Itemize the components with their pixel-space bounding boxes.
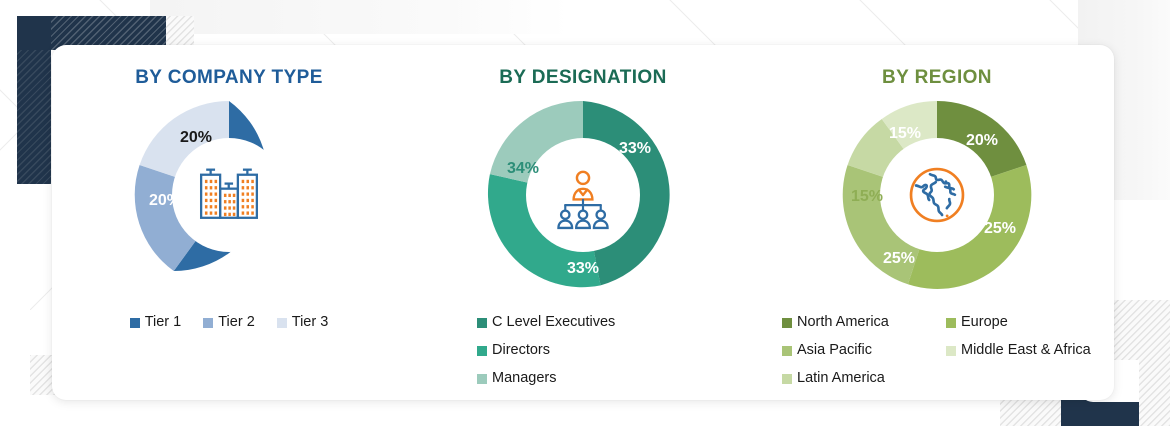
legend-label-north-america: North America xyxy=(797,309,889,337)
panel-by-region: BY REGION 20% 25% 25% xyxy=(767,67,1107,397)
legend-item-tier-3[interactable]: Tier 3 xyxy=(277,309,329,337)
panel-title-company-type: BY COMPANY TYPE xyxy=(135,67,323,89)
legend-item-tier-2[interactable]: Tier 2 xyxy=(203,309,255,337)
legend-item-tier-1[interactable]: Tier 1 xyxy=(130,309,182,337)
legend-designation: C Level Executives Directors Managers xyxy=(477,309,707,392)
legend-swatch-directors xyxy=(477,346,487,356)
legend-item-latin-america[interactable]: Latin America xyxy=(782,365,932,393)
donut-chart-company-type: 60% 20% 20% xyxy=(129,95,329,295)
globe-icon xyxy=(899,157,975,233)
buildings-icon xyxy=(191,157,267,233)
legend-item-directors[interactable]: Directors xyxy=(477,337,707,365)
legend-swatch-tier-2 xyxy=(203,318,213,328)
legend-item-asia-pacific[interactable]: Asia Pacific xyxy=(782,337,932,365)
corner-accent-top-left-hatch-2 xyxy=(17,50,51,184)
org-chart-icon xyxy=(545,157,621,233)
legend-label-middle-east-africa: Middle East & Africa xyxy=(961,337,1091,365)
legend-swatch-tier-1 xyxy=(130,318,140,328)
legend-label-tier-2: Tier 2 xyxy=(218,309,255,337)
legend-swatch-middle-east-africa xyxy=(946,346,956,356)
legend-swatch-asia-pacific xyxy=(782,346,792,356)
legend-swatch-north-america xyxy=(782,318,792,328)
donut-chart-region: 20% 25% 25% 15% 15% xyxy=(837,95,1037,295)
legend-swatch-tier-3 xyxy=(277,318,287,328)
panel-title-region: BY REGION xyxy=(882,67,992,89)
legend-item-north-america[interactable]: North America xyxy=(782,309,932,337)
legend-label-europe: Europe xyxy=(961,309,1008,337)
legend-item-c-level-executives[interactable]: C Level Executives xyxy=(477,309,707,337)
panel-by-designation: BY DESIGNATION 33% 33% 34% xyxy=(413,67,753,397)
legend-label-managers: Managers xyxy=(492,365,556,393)
legend-item-europe[interactable]: Europe xyxy=(946,309,1116,337)
legend-swatch-europe xyxy=(946,318,956,328)
charts-card: BY COMPANY TYPE 60% 20% 20% xyxy=(52,45,1114,400)
legend-label-directors: Directors xyxy=(492,337,550,365)
legend-label-tier-1: Tier 1 xyxy=(145,309,182,337)
legend-label-asia-pacific: Asia Pacific xyxy=(797,337,872,365)
legend-region: North America Europe Asia Pacific Middle… xyxy=(782,309,1102,392)
legend-item-managers[interactable]: Managers xyxy=(477,365,707,393)
panel-title-designation: BY DESIGNATION xyxy=(499,67,666,89)
legend-swatch-latin-america xyxy=(782,374,792,384)
legend-label-c-level-executives: C Level Executives xyxy=(492,309,615,337)
legend-label-tier-3: Tier 3 xyxy=(292,309,329,337)
infographic-canvas: BY COMPANY TYPE 60% 20% 20% xyxy=(0,0,1170,444)
legend-swatch-managers xyxy=(477,374,487,384)
donut-chart-designation: 33% 33% 34% xyxy=(483,95,683,295)
legend-company-type: Tier 1 Tier 2 Tier 3 xyxy=(130,309,329,337)
legend-item-middle-east-africa[interactable]: Middle East & Africa xyxy=(946,337,1116,365)
legend-label-latin-america: Latin America xyxy=(797,365,885,393)
legend-swatch-c-level-executives xyxy=(477,318,487,328)
panel-by-company-type: BY COMPANY TYPE 60% 20% 20% xyxy=(59,67,399,397)
top-left-gray-band xyxy=(150,0,570,34)
